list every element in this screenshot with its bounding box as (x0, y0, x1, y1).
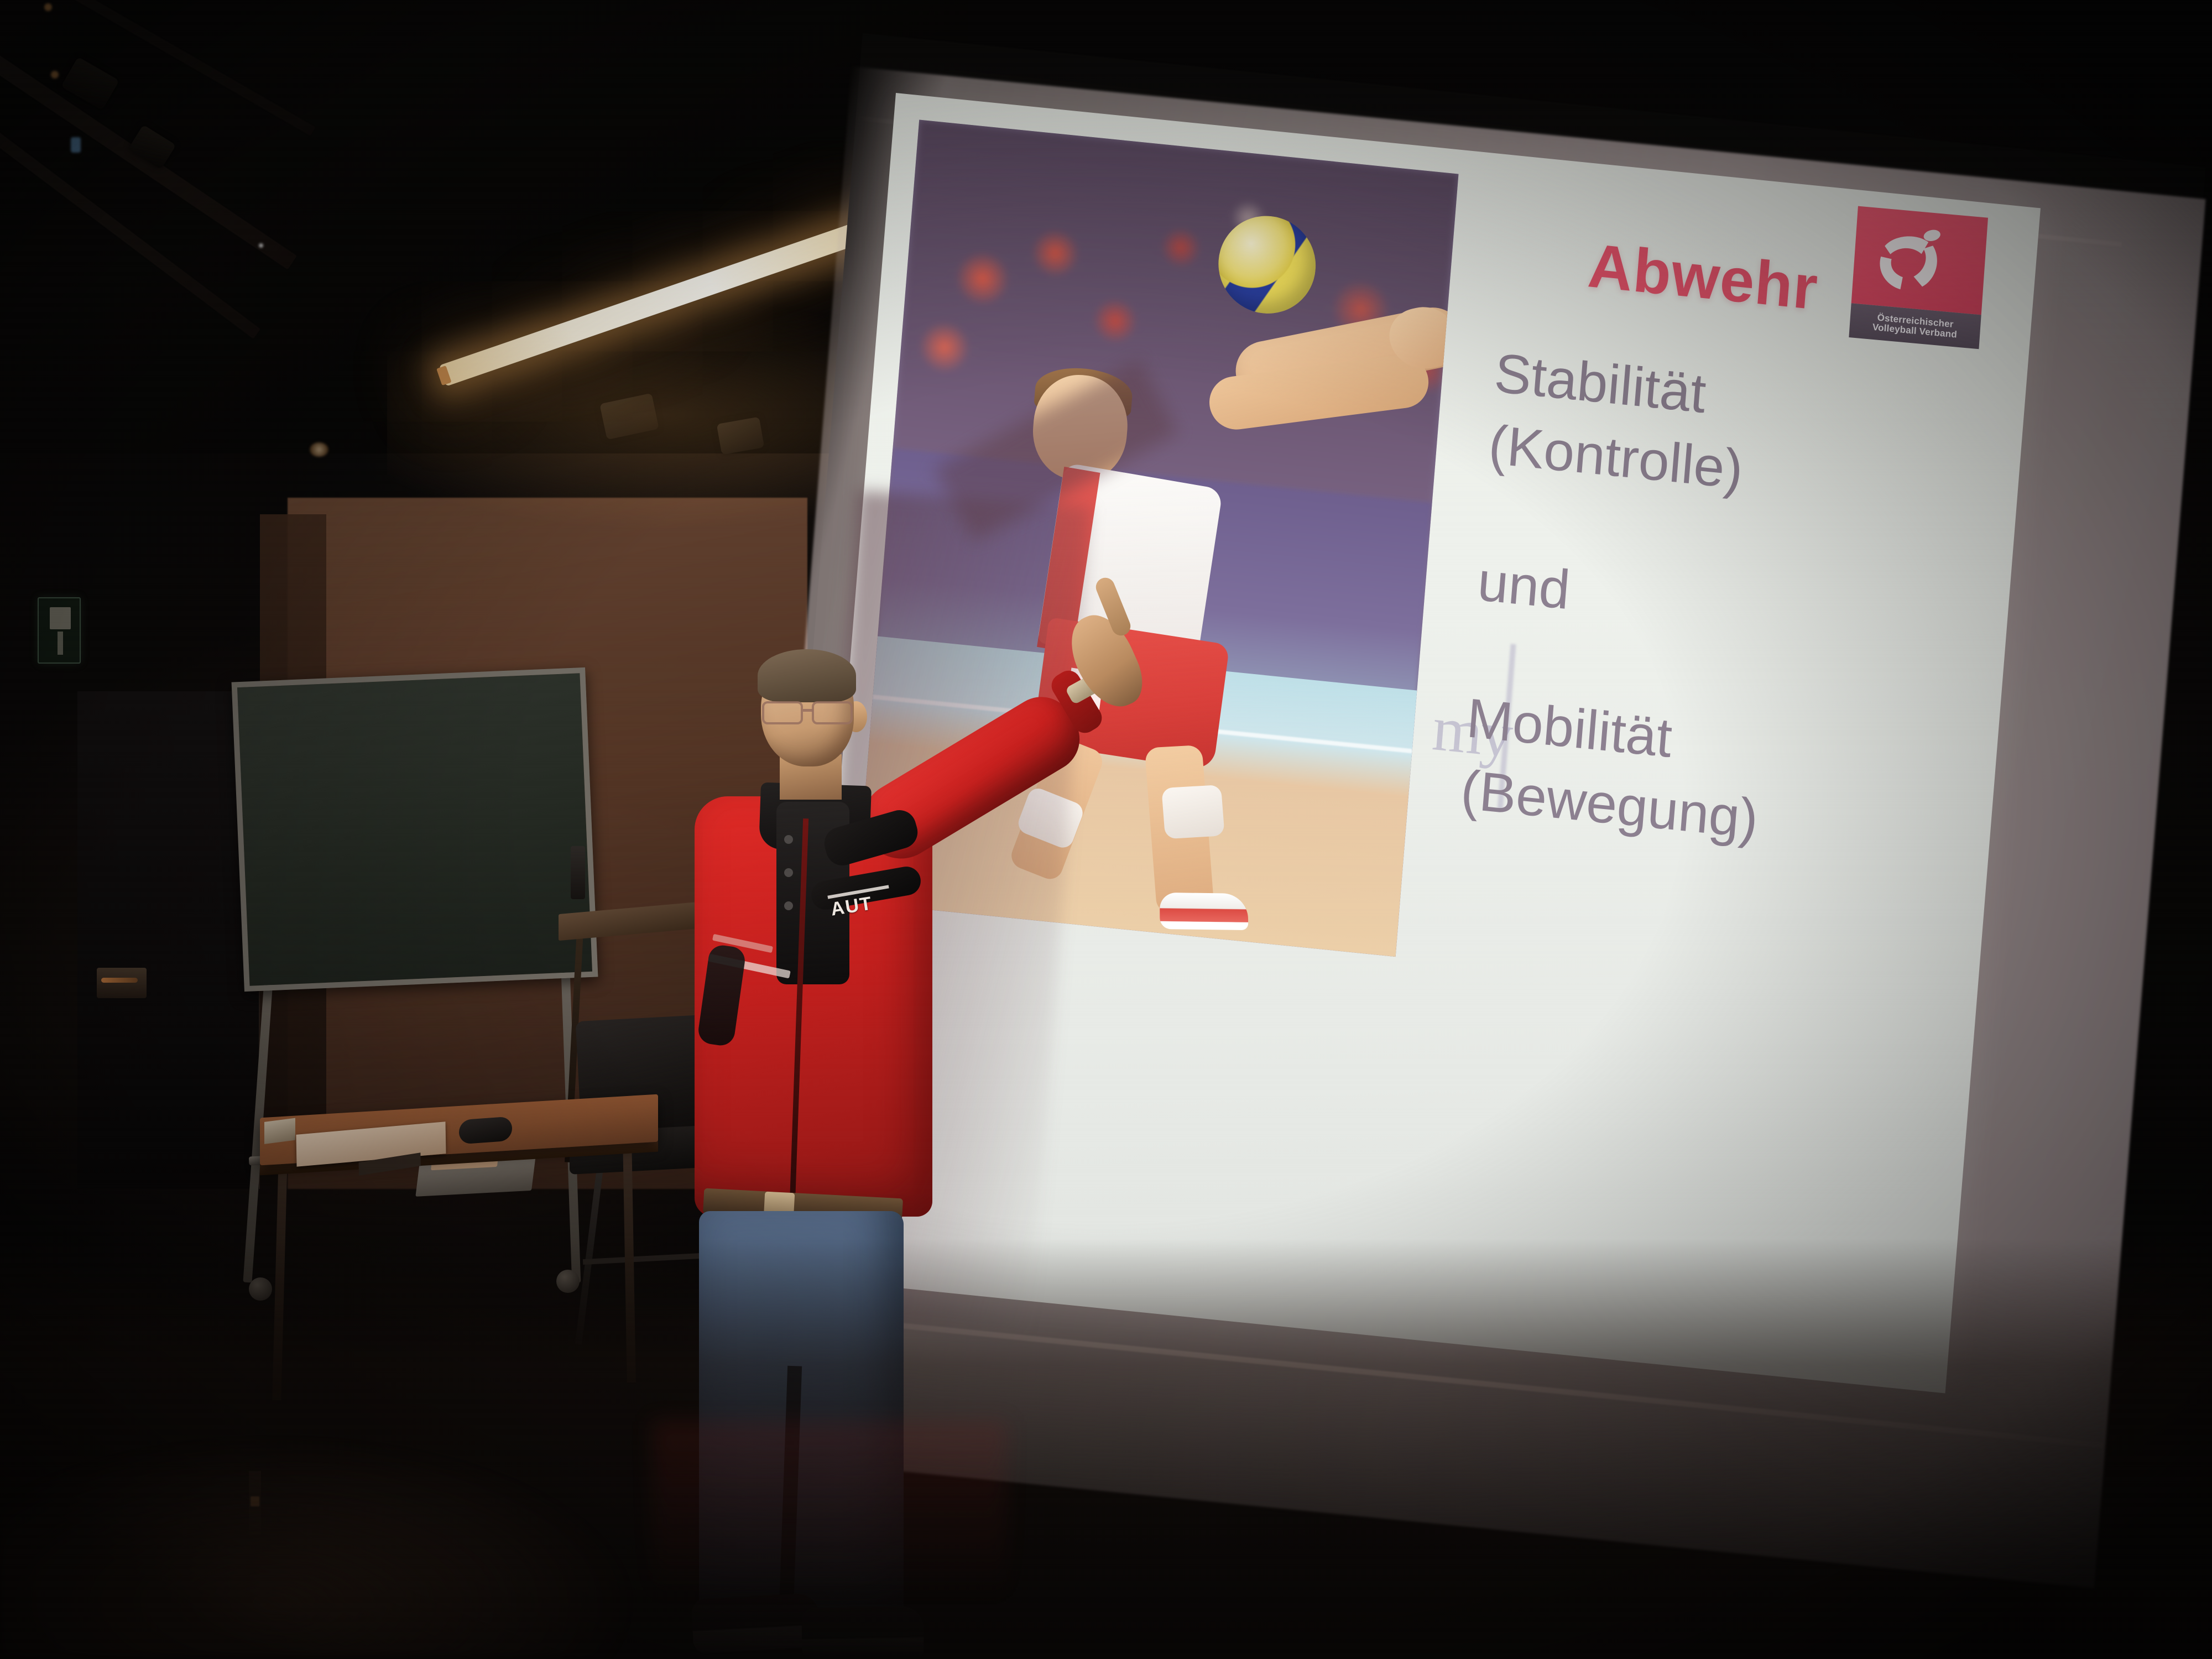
presenter-remote[interactable] (459, 1117, 512, 1145)
stage-lamp (599, 393, 659, 440)
ceiling-downlight (310, 442, 328, 457)
rig-indicator-light (259, 243, 263, 248)
oevv-logo-mark (1851, 206, 1988, 315)
ceiling-rigging (0, 0, 968, 453)
photo-player-shoe (1160, 893, 1248, 930)
paper-dark-mark (359, 1152, 421, 1176)
polo-button (784, 868, 793, 877)
ceiling-truss (61, 0, 315, 136)
glasses-bridge (803, 709, 813, 712)
stage-lamp (717, 417, 765, 455)
glasses-lens (762, 701, 803, 724)
photo-knee-pad (1161, 785, 1225, 839)
glasses-lens (812, 701, 853, 724)
slide-body-text: Stabilität (Kontrolle) und Mobilität (Be… (1458, 337, 1993, 875)
polo-button (784, 835, 793, 844)
volleyball-icon (1867, 218, 1950, 302)
table-object-block[interactable] (264, 1118, 295, 1144)
slide-title: Abwehr (1585, 229, 1820, 324)
door-handle[interactable] (97, 968, 147, 998)
chalkboard-clip (571, 846, 585, 899)
oevv-logo: Österreichischer Volleyball Verband (1849, 206, 1988, 349)
presenter-glasses (759, 701, 856, 726)
exit-sign-glyph-body (58, 632, 63, 655)
rig-indicator-light (44, 3, 52, 11)
rig-indicator-light (51, 71, 59, 79)
presentation-photo-scene: 1 my Abwehr Stabilität (Kontrolle) und M… (0, 0, 2212, 1659)
exit-sign-glyph-head (50, 607, 71, 629)
emergency-exit-sign (38, 597, 81, 664)
floor-reflection (653, 1421, 1006, 1659)
chalkboard-panel[interactable] (232, 667, 598, 992)
rig-indicator-light (71, 137, 81, 153)
presenter-hair (758, 649, 856, 702)
polo-button (784, 901, 793, 910)
